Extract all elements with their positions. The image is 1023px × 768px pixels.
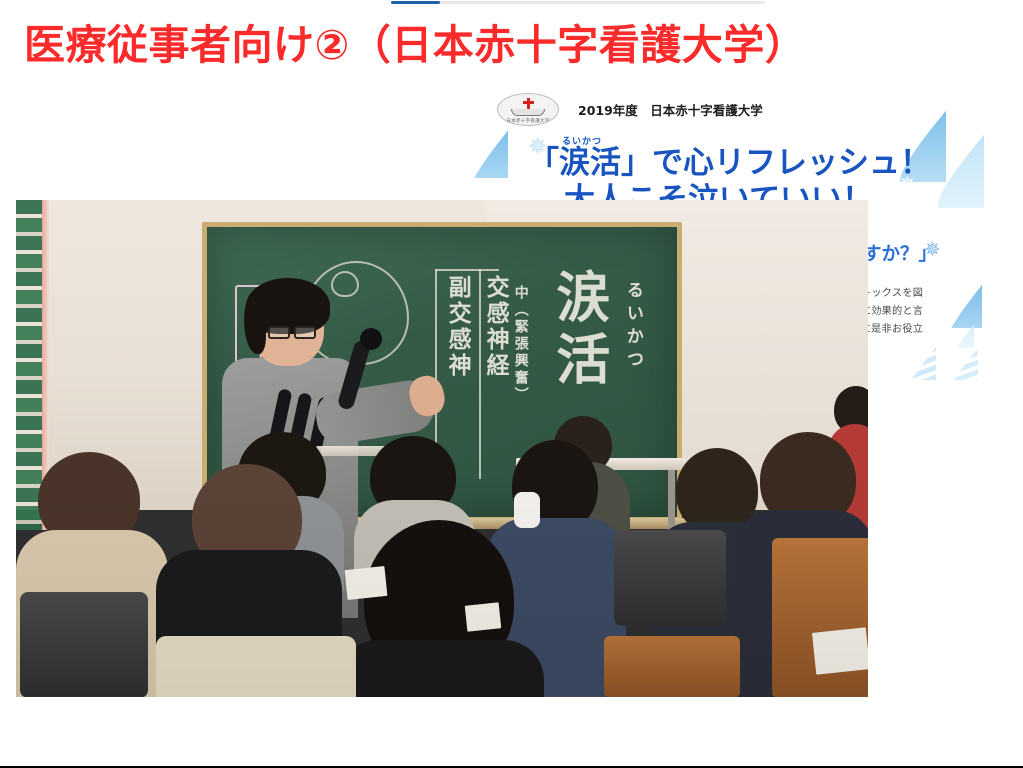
- chalk-oval: [331, 271, 359, 297]
- microphone-head: [360, 328, 382, 350]
- chalk-divider: [479, 269, 481, 479]
- seminar-room-photo: 前頭前野 （共感 3種 反射の 情動の涙 副交感神 交感神経 中（緊張興奮） 涙…: [16, 200, 868, 697]
- presenter-glasses: [268, 326, 290, 339]
- chair: [614, 530, 726, 626]
- flyer-headline-line1: 「涙活」で心リフレッシュ！: [528, 145, 948, 183]
- handout-paper: [812, 627, 868, 674]
- seal-caption: 日本赤十字看護大学: [497, 118, 559, 124]
- top-progress-bar[interactable]: [0, 0, 1023, 5]
- audience-torso: [338, 640, 544, 697]
- water-droplet-icon: [946, 268, 982, 328]
- slide-canvas: 医療従事者向け②（日本赤十字看護大学） ✵ ✵ ✵ ✵: [0, 0, 1023, 768]
- red-cross-icon: [523, 101, 534, 104]
- page-title: 医療従事者向け②（日本赤十字看護大学）: [24, 22, 806, 69]
- chalk-note: 交感神経: [483, 275, 507, 475]
- progress-track[interactable]: [391, 1, 765, 4]
- photo-curtain: [16, 200, 42, 530]
- progress-fill: [391, 1, 440, 4]
- flyer-organization-line: 2019年度 日本赤十字看護大学: [578, 100, 763, 119]
- handout-paper: [345, 566, 388, 600]
- presenter-glasses: [294, 326, 316, 339]
- audience-mask: [514, 492, 540, 528]
- desk-leg: [668, 470, 675, 532]
- chair: [604, 636, 740, 697]
- chair: [20, 592, 148, 697]
- chalk-note: 中（緊張興奮）: [513, 285, 528, 465]
- chalk-divider: [435, 269, 499, 271]
- audience-blanket: [156, 636, 356, 697]
- university-seal-icon: 日本赤十字看護大学: [497, 93, 559, 126]
- chalk-ruby: るいかつ: [623, 281, 641, 431]
- handout-paper: [465, 602, 502, 631]
- seal-emblem: [511, 109, 545, 116]
